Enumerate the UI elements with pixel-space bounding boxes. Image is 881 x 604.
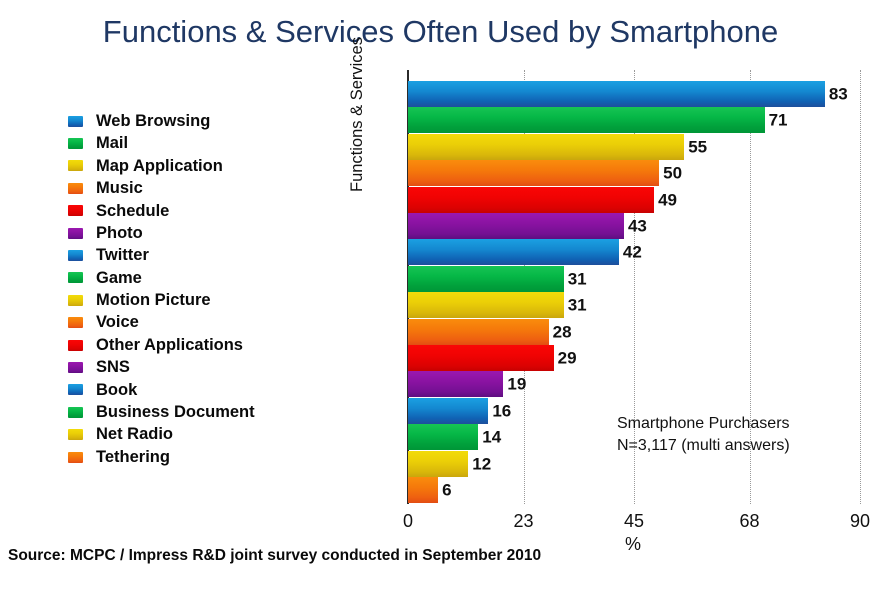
legend-item: Book	[68, 379, 368, 401]
x-axis-tick-label: 0	[403, 512, 413, 530]
legend-swatch-icon	[68, 295, 83, 306]
legend-item-label: Music	[96, 180, 143, 197]
legend-item: Voice	[68, 312, 368, 334]
bar-row: 19	[408, 370, 860, 398]
bar	[408, 213, 624, 239]
legend-swatch-icon	[68, 228, 83, 239]
bar-row: 83	[408, 80, 860, 108]
annotation-line-2: N=3,117 (multi answers)	[617, 435, 790, 457]
legend-item-label: Net Radio	[96, 426, 173, 443]
source-note: Source: MCPC / Impress R&D joint survey …	[8, 548, 541, 564]
bar-row: 49	[408, 186, 860, 214]
legend-swatch-icon	[68, 317, 83, 328]
bar-value-label: 31	[568, 270, 587, 287]
bar-value-label: 12	[472, 455, 491, 472]
legend-item: SNS	[68, 356, 368, 378]
legend-item-label: Schedule	[96, 203, 169, 220]
legend-item-label: Map Application	[96, 158, 223, 175]
legend-item: Mail	[68, 132, 368, 154]
chart-annotation: Smartphone Purchasers N=3,117 (multi ans…	[617, 413, 790, 456]
bar-row: 43	[408, 212, 860, 240]
x-axis-unit-label: %	[625, 535, 641, 553]
x-axis-tick-label: 68	[739, 512, 759, 530]
bar	[408, 107, 765, 133]
legend-item-label: Game	[96, 270, 142, 287]
legend-item: Schedule	[68, 200, 368, 222]
bar-value-label: 55	[688, 138, 707, 155]
bar-row: 55	[408, 133, 860, 161]
bar-row: 42	[408, 238, 860, 266]
legend-swatch-icon	[68, 340, 83, 351]
legend-swatch-icon	[68, 384, 83, 395]
bar-row: 31	[408, 265, 860, 293]
bar	[408, 266, 564, 292]
legend-item: Other Applications	[68, 334, 368, 356]
legend-swatch-icon	[68, 452, 83, 463]
legend-item-label: Mail	[96, 135, 128, 152]
bar	[408, 292, 564, 318]
bar-value-label: 71	[769, 112, 788, 129]
bar-value-label: 42	[623, 244, 642, 261]
bar	[408, 345, 554, 371]
bar-value-label: 83	[829, 86, 848, 103]
legend-item-label: Photo	[96, 225, 143, 242]
bar-value-label: 19	[507, 376, 526, 393]
legend-item-label: Twitter	[96, 247, 149, 264]
legend-item-label: SNS	[96, 359, 130, 376]
bar-row: 71	[408, 106, 860, 134]
legend-swatch-icon	[68, 183, 83, 194]
bar-value-label: 6	[442, 482, 451, 499]
bar	[408, 134, 684, 160]
bar	[408, 424, 478, 450]
legend-item: Business Document	[68, 401, 368, 423]
legend-item-label: Web Browsing	[96, 113, 210, 130]
legend-swatch-icon	[68, 407, 83, 418]
gridline	[860, 70, 862, 504]
bar-row: 50	[408, 159, 860, 187]
bar	[408, 160, 659, 186]
legend-item-label: Tethering	[96, 449, 170, 466]
legend-item-label: Book	[96, 382, 137, 399]
legend-item-label: Business Document	[96, 404, 255, 421]
legend-item: Music	[68, 177, 368, 199]
legend-swatch-icon	[68, 205, 83, 216]
legend-swatch-icon	[68, 362, 83, 373]
legend-item-label: Motion Picture	[96, 292, 211, 309]
bar-value-label: 28	[553, 323, 572, 340]
page-title: Functions & Services Often Used by Smart…	[0, 14, 881, 50]
legend-item: Map Application	[68, 155, 368, 177]
x-axis-tick-label: 90	[850, 512, 870, 530]
bar-row: 28	[408, 318, 860, 346]
legend-swatch-icon	[68, 160, 83, 171]
bar	[408, 477, 438, 503]
bar	[408, 319, 549, 345]
bar-row: 31	[408, 291, 860, 319]
legend-item: Tethering	[68, 446, 368, 468]
bar	[408, 451, 468, 477]
legend-item: Web Browsing	[68, 110, 368, 132]
legend-item: Photo	[68, 222, 368, 244]
bar-value-label: 43	[628, 218, 647, 235]
bar-value-label: 14	[482, 429, 501, 446]
legend-swatch-icon	[68, 250, 83, 261]
legend-item: Game	[68, 267, 368, 289]
legend-swatch-icon	[68, 116, 83, 127]
bar-value-label: 50	[663, 165, 682, 182]
legend-swatch-icon	[68, 138, 83, 149]
bar-row: 6	[408, 476, 860, 504]
legend-item-label: Voice	[96, 314, 139, 331]
y-axis-title: Functions & Services	[349, 0, 366, 192]
bar	[408, 187, 654, 213]
legend-swatch-icon	[68, 272, 83, 283]
chart-legend: Web BrowsingMailMap ApplicationMusicSche…	[68, 110, 368, 468]
x-axis-tick-label: 23	[513, 512, 533, 530]
legend-item: Motion Picture	[68, 289, 368, 311]
legend-item: Twitter	[68, 244, 368, 266]
bar-value-label: 31	[568, 297, 587, 314]
bar	[408, 371, 503, 397]
x-axis-tick-label: 45	[624, 512, 644, 530]
annotation-line-1: Smartphone Purchasers	[617, 413, 790, 435]
bar-value-label: 16	[492, 402, 511, 419]
bar	[408, 398, 488, 424]
legend-item-label: Other Applications	[96, 337, 243, 354]
bar	[408, 81, 825, 107]
legend-item: Net Radio	[68, 423, 368, 445]
bar-row: 29	[408, 344, 860, 372]
legend-swatch-icon	[68, 429, 83, 440]
bar-value-label: 49	[658, 191, 677, 208]
chart-container: Functions & Services Often Used by Smart…	[0, 0, 881, 604]
bar-value-label: 29	[558, 350, 577, 367]
bar	[408, 239, 619, 265]
